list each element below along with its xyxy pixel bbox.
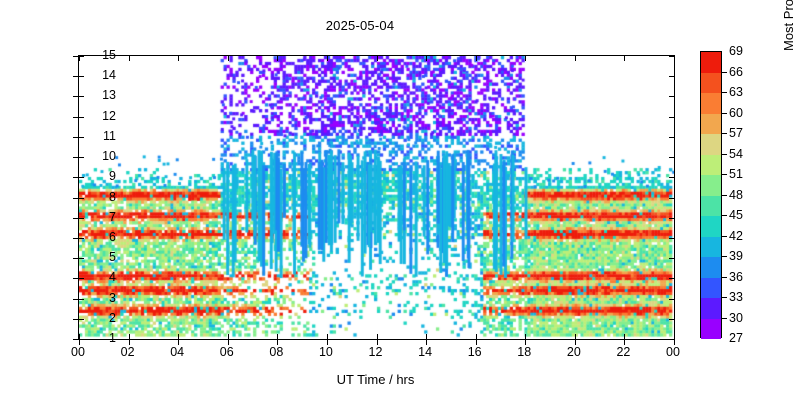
y-axis-tick-label: 14 bbox=[102, 69, 116, 81]
x-axis-tick-top bbox=[228, 56, 229, 61]
y-axis-tick-label: 2 bbox=[109, 312, 116, 324]
colorbar-band bbox=[701, 114, 721, 135]
colorbar-tick bbox=[722, 133, 727, 134]
colorbar-tick-label: 54 bbox=[729, 148, 743, 160]
y-axis-tick bbox=[79, 278, 84, 279]
x-axis-tick bbox=[277, 334, 278, 339]
x-axis-tick bbox=[79, 334, 80, 339]
x-axis-tick-top bbox=[426, 56, 427, 61]
y-axis-tick-right bbox=[669, 238, 674, 239]
page-title: 2025-05-04 bbox=[0, 18, 720, 33]
x-axis-tick-top bbox=[476, 56, 477, 61]
x-axis-tick-label: 18 bbox=[504, 345, 544, 359]
y-axis-tick-right bbox=[669, 177, 674, 178]
y-axis-tick-label: 7 bbox=[109, 211, 116, 223]
x-axis-tick-top bbox=[178, 56, 179, 61]
colorbar-tick-label: 48 bbox=[729, 189, 743, 201]
y-axis-tick bbox=[79, 198, 84, 199]
y-axis-tick bbox=[79, 218, 84, 219]
colorbar-tick bbox=[722, 277, 727, 278]
colorbar-tick-label: 57 bbox=[729, 127, 743, 139]
y-axis-tick bbox=[79, 117, 84, 118]
colorbar-band bbox=[701, 155, 721, 176]
colorbar-tick-label: 51 bbox=[729, 168, 743, 180]
y-axis-tick-label: 1 bbox=[109, 332, 116, 344]
colorbar-band bbox=[701, 319, 721, 340]
x-axis-tick bbox=[674, 334, 675, 339]
y-axis-tick-label: 4 bbox=[109, 271, 116, 283]
x-axis-tick-top bbox=[624, 56, 625, 61]
x-axis-tick bbox=[525, 334, 526, 339]
y-axis-tick bbox=[79, 96, 84, 97]
colorbar-tick bbox=[722, 92, 727, 93]
colorbar-tick bbox=[722, 215, 727, 216]
x-axis-tick-label: 08 bbox=[256, 345, 296, 359]
x-axis-tick bbox=[624, 334, 625, 339]
y-axis-tick-label: 9 bbox=[109, 170, 116, 182]
x-axis-tick-label: 10 bbox=[306, 345, 346, 359]
y-axis-tick bbox=[79, 319, 84, 320]
x-axis-title: UT Time / hrs bbox=[78, 372, 673, 387]
y-axis-tick bbox=[79, 177, 84, 178]
colorbar-tick-label: 33 bbox=[729, 291, 743, 303]
y-axis-tick-right bbox=[669, 157, 674, 158]
colorbar-band bbox=[701, 134, 721, 155]
x-axis-tick-top bbox=[525, 56, 526, 61]
colorbar-tick bbox=[722, 154, 727, 155]
y-axis-tick bbox=[79, 137, 84, 138]
y-axis-tick bbox=[79, 258, 84, 259]
colorbar-tick-label: 36 bbox=[729, 271, 743, 283]
colorbar-tick-label: 39 bbox=[729, 250, 743, 262]
colorbar-band bbox=[701, 237, 721, 258]
x-axis-tick-top bbox=[377, 56, 378, 61]
x-axis-tick-label: 00 bbox=[58, 345, 98, 359]
colorbar-tick bbox=[722, 72, 727, 73]
colorbar-title: Most Probable Amplitude MPA / dB bbox=[781, 0, 796, 51]
x-axis-tick-top bbox=[575, 56, 576, 61]
ionogram-figure: 2025-05-04 Frequency / MHz UT Time / hrs… bbox=[0, 0, 800, 400]
y-axis-tick-label: 12 bbox=[102, 110, 116, 122]
colorbar-tick-label: 63 bbox=[729, 86, 743, 98]
colorbar-tick-label: 27 bbox=[729, 332, 743, 344]
x-axis-tick bbox=[178, 334, 179, 339]
colorbar-band bbox=[701, 216, 721, 237]
colorbar-band bbox=[701, 73, 721, 94]
x-axis-tick bbox=[228, 334, 229, 339]
y-axis-tick-label: 10 bbox=[102, 150, 116, 162]
x-axis-tick bbox=[575, 334, 576, 339]
colorbar-tick-label: 30 bbox=[729, 312, 743, 324]
colorbar-band bbox=[701, 196, 721, 217]
x-axis-tick bbox=[476, 334, 477, 339]
x-axis-tick-top bbox=[129, 56, 130, 61]
colorbar-tick bbox=[722, 318, 727, 319]
x-axis-tick-top bbox=[674, 56, 675, 61]
x-axis-tick-label: 22 bbox=[603, 345, 643, 359]
y-axis-tick-right bbox=[669, 258, 674, 259]
x-axis-tick-top bbox=[79, 56, 80, 61]
colorbar-band bbox=[701, 52, 721, 73]
colorbar-tick bbox=[722, 236, 727, 237]
x-axis-tick-top bbox=[277, 56, 278, 61]
x-axis-tick-label: 16 bbox=[455, 345, 495, 359]
colorbar-tick bbox=[722, 297, 727, 298]
y-axis-tick-right bbox=[669, 278, 674, 279]
y-axis-tick bbox=[79, 76, 84, 77]
y-axis-tick-right bbox=[669, 319, 674, 320]
plot-area bbox=[78, 55, 675, 340]
y-axis-tick-label: 3 bbox=[109, 292, 116, 304]
x-axis-tick bbox=[129, 334, 130, 339]
y-axis-tick-right bbox=[669, 76, 674, 77]
y-axis-tick-right bbox=[669, 117, 674, 118]
x-axis-tick-label: 20 bbox=[554, 345, 594, 359]
colorbar-tick-label: 66 bbox=[729, 66, 743, 78]
colorbar-tick-label: 42 bbox=[729, 230, 743, 242]
y-axis-tick-label: 13 bbox=[102, 89, 116, 101]
scatter-plot-canvas bbox=[79, 56, 674, 339]
colorbar-tick-label: 69 bbox=[729, 45, 743, 57]
y-axis-tick-right bbox=[669, 299, 674, 300]
y-axis-tick-label: 6 bbox=[109, 231, 116, 243]
y-axis-tick-right bbox=[669, 96, 674, 97]
y-axis-tick-label: 11 bbox=[103, 130, 116, 142]
x-axis-tick bbox=[327, 334, 328, 339]
colorbar-band bbox=[701, 257, 721, 278]
y-axis-tick-right bbox=[669, 218, 674, 219]
colorbar bbox=[700, 51, 722, 338]
colorbar-band bbox=[701, 175, 721, 196]
colorbar-tick-label: 60 bbox=[729, 107, 743, 119]
colorbar-band bbox=[701, 298, 721, 319]
x-axis-tick-label: 14 bbox=[405, 345, 445, 359]
colorbar-band bbox=[701, 278, 721, 299]
x-axis-tick-label: 12 bbox=[356, 345, 396, 359]
colorbar-tick bbox=[722, 113, 727, 114]
x-axis-tick-label: 04 bbox=[157, 345, 197, 359]
x-axis-tick bbox=[426, 334, 427, 339]
y-axis-tick-right bbox=[669, 137, 674, 138]
colorbar-tick bbox=[722, 256, 727, 257]
colorbar-tick bbox=[722, 174, 727, 175]
colorbar-tick-label: 45 bbox=[729, 209, 743, 221]
y-axis-tick-label: 15 bbox=[102, 49, 116, 61]
colorbar-band bbox=[701, 93, 721, 114]
x-axis-tick bbox=[377, 334, 378, 339]
x-axis-tick-label: 02 bbox=[108, 345, 148, 359]
y-axis-tick-label: 5 bbox=[109, 251, 116, 263]
x-axis-tick-label: 00 bbox=[653, 345, 693, 359]
y-axis-tick bbox=[79, 157, 84, 158]
colorbar-tick bbox=[722, 195, 727, 196]
x-axis-tick-top bbox=[327, 56, 328, 61]
x-axis-tick-label: 06 bbox=[207, 345, 247, 359]
y-axis-tick bbox=[79, 299, 84, 300]
y-axis-tick-label: 8 bbox=[109, 191, 116, 203]
y-axis-tick-right bbox=[669, 198, 674, 199]
y-axis-tick bbox=[79, 238, 84, 239]
